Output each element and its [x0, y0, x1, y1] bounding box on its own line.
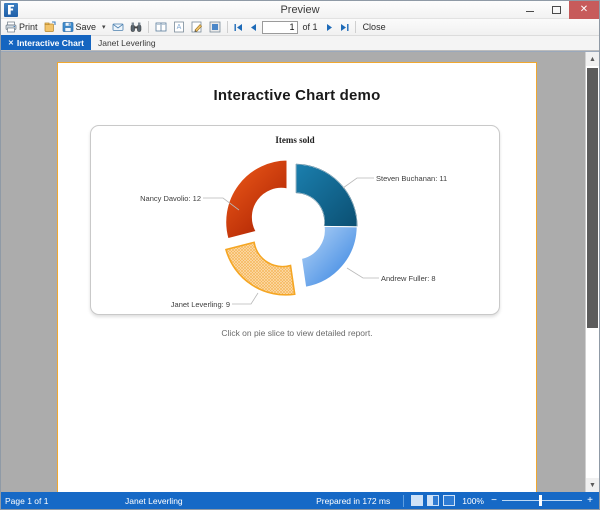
design-button[interactable] — [189, 20, 205, 35]
next-page-button[interactable] — [323, 21, 336, 34]
minimize-icon — [526, 11, 534, 12]
tab-bar: ✕ Interactive Chart Janet Leverling — [1, 36, 599, 51]
chart-card: Items sold — [90, 125, 500, 315]
status-prepared-label: Prepared in 172 ms — [316, 496, 390, 506]
scroll-up-button[interactable]: ▲ — [586, 52, 600, 66]
save-button[interactable]: Save — [60, 20, 99, 35]
scroll-thumb[interactable] — [587, 68, 598, 328]
print-label: Print — [19, 22, 38, 32]
status-separator — [403, 495, 404, 507]
printer-icon — [5, 21, 17, 33]
page-number-input[interactable] — [262, 21, 298, 34]
status-page-label: Page 1 of 1 — [5, 496, 125, 506]
tab-close-icon[interactable]: ✕ — [8, 39, 14, 47]
single-page-view-icon[interactable] — [411, 495, 423, 506]
leader-line-steven — [343, 178, 374, 188]
two-page-view-icon[interactable] — [427, 495, 439, 506]
status-selection-label: Janet Leverling — [125, 496, 183, 506]
watermark-button[interactable]: A — [171, 20, 187, 35]
toolbar-separator-1 — [148, 21, 149, 33]
maximize-icon — [552, 6, 561, 14]
leader-line-janet — [232, 293, 258, 304]
document-scroll-region: Interactive Chart demo Items sold — [1, 52, 585, 492]
tab-interactive-chart-label: Interactive Chart — [17, 38, 84, 48]
close-window-button[interactable]: ✕ — [569, 1, 599, 19]
save-disk-icon — [62, 21, 74, 33]
page-count-label: of 1 — [300, 22, 321, 32]
scroll-track[interactable] — [586, 66, 600, 478]
previous-page-button[interactable] — [247, 21, 260, 34]
toolbar: Print Save ▾ — [1, 19, 599, 36]
save-dropdown-caret[interactable]: ▾ — [100, 23, 108, 31]
pie-slice-nancy-davolio[interactable] — [226, 160, 287, 239]
pie-label-steven-buchanan: Steven Buchanan: 11 — [376, 174, 447, 183]
pie-slice-janet-leverling[interactable] — [226, 242, 295, 294]
page-layout-icon — [155, 21, 167, 33]
zoom-out-button[interactable]: − — [489, 495, 499, 506]
zoom-slider-thumb[interactable] — [539, 495, 542, 506]
quick-print-button[interactable] — [42, 20, 58, 35]
scroll-down-button[interactable]: ▼ — [586, 478, 600, 492]
svg-text:A: A — [176, 24, 181, 31]
email-button[interactable] — [110, 20, 126, 35]
report-page: Interactive Chart demo Items sold — [57, 62, 537, 492]
pie-slice-nancy-davolio-group — [226, 160, 287, 239]
page-title: Interactive Chart demo — [58, 87, 536, 104]
tab-interactive-chart[interactable]: ✕ Interactive Chart — [1, 35, 91, 50]
tab-janet-leverling[interactable]: Janet Leverling — [91, 35, 163, 50]
background-color-button[interactable] — [207, 20, 223, 35]
donut-chart: Steven Buchanan: 11 Andrew Fuller: 8 Jan… — [91, 126, 501, 316]
last-page-button[interactable] — [338, 21, 351, 34]
fit-page-view-icon[interactable] — [443, 495, 455, 506]
chart-caption: Click on pie slice to view detailed repo… — [58, 328, 536, 338]
close-preview-button[interactable]: Close — [360, 22, 389, 32]
close-icon: ✕ — [580, 5, 588, 15]
find-button[interactable] — [128, 20, 144, 35]
pie-label-nancy-davolio: Nancy Davolio: 12 — [140, 194, 201, 203]
pie-slice-janet-leverling-group — [226, 242, 295, 294]
watermark-icon: A — [173, 21, 185, 33]
toolbar-separator-2 — [227, 21, 228, 33]
pie-slice-andrew-fuller[interactable] — [302, 226, 358, 287]
print-button[interactable]: Print — [3, 20, 40, 35]
tab-janet-leverling-label: Janet Leverling — [98, 38, 156, 48]
toolbar-separator-3 — [355, 21, 356, 33]
zoom-percent-label: 100% — [462, 496, 484, 506]
pie-label-andrew-fuller: Andrew Fuller: 8 — [381, 274, 436, 283]
preview-window: Preview ✕ Print — [0, 0, 600, 510]
pencil-edit-icon — [191, 21, 203, 33]
zoom-slider-track[interactable] — [502, 500, 582, 501]
status-bar: Page 1 of 1 Janet Leverling Prepared in … — [1, 492, 599, 509]
pie-slice-steven-buchanan[interactable] — [296, 164, 357, 227]
maximize-button[interactable] — [543, 1, 569, 19]
binoculars-icon — [130, 21, 142, 33]
title-bar: Preview ✕ — [1, 1, 599, 19]
leader-line-andrew — [347, 268, 379, 278]
background-color-icon — [209, 21, 221, 33]
first-page-button[interactable] — [232, 21, 245, 34]
vertical-scrollbar[interactable]: ▲ ▼ — [585, 52, 599, 492]
pie-label-janet-leverling: Janet Leverling: 9 — [171, 300, 230, 309]
window-title: Preview — [1, 1, 599, 19]
report-icon — [4, 3, 18, 17]
quick-print-icon — [44, 21, 56, 33]
minimize-button[interactable] — [517, 1, 543, 19]
window-controls: ✕ — [517, 1, 599, 19]
document-area: Interactive Chart demo Items sold — [1, 51, 599, 492]
zoom-in-button[interactable]: + — [585, 495, 595, 506]
envelope-icon — [112, 21, 124, 33]
page-setup-button[interactable] — [153, 20, 169, 35]
save-label: Save — [76, 22, 97, 32]
